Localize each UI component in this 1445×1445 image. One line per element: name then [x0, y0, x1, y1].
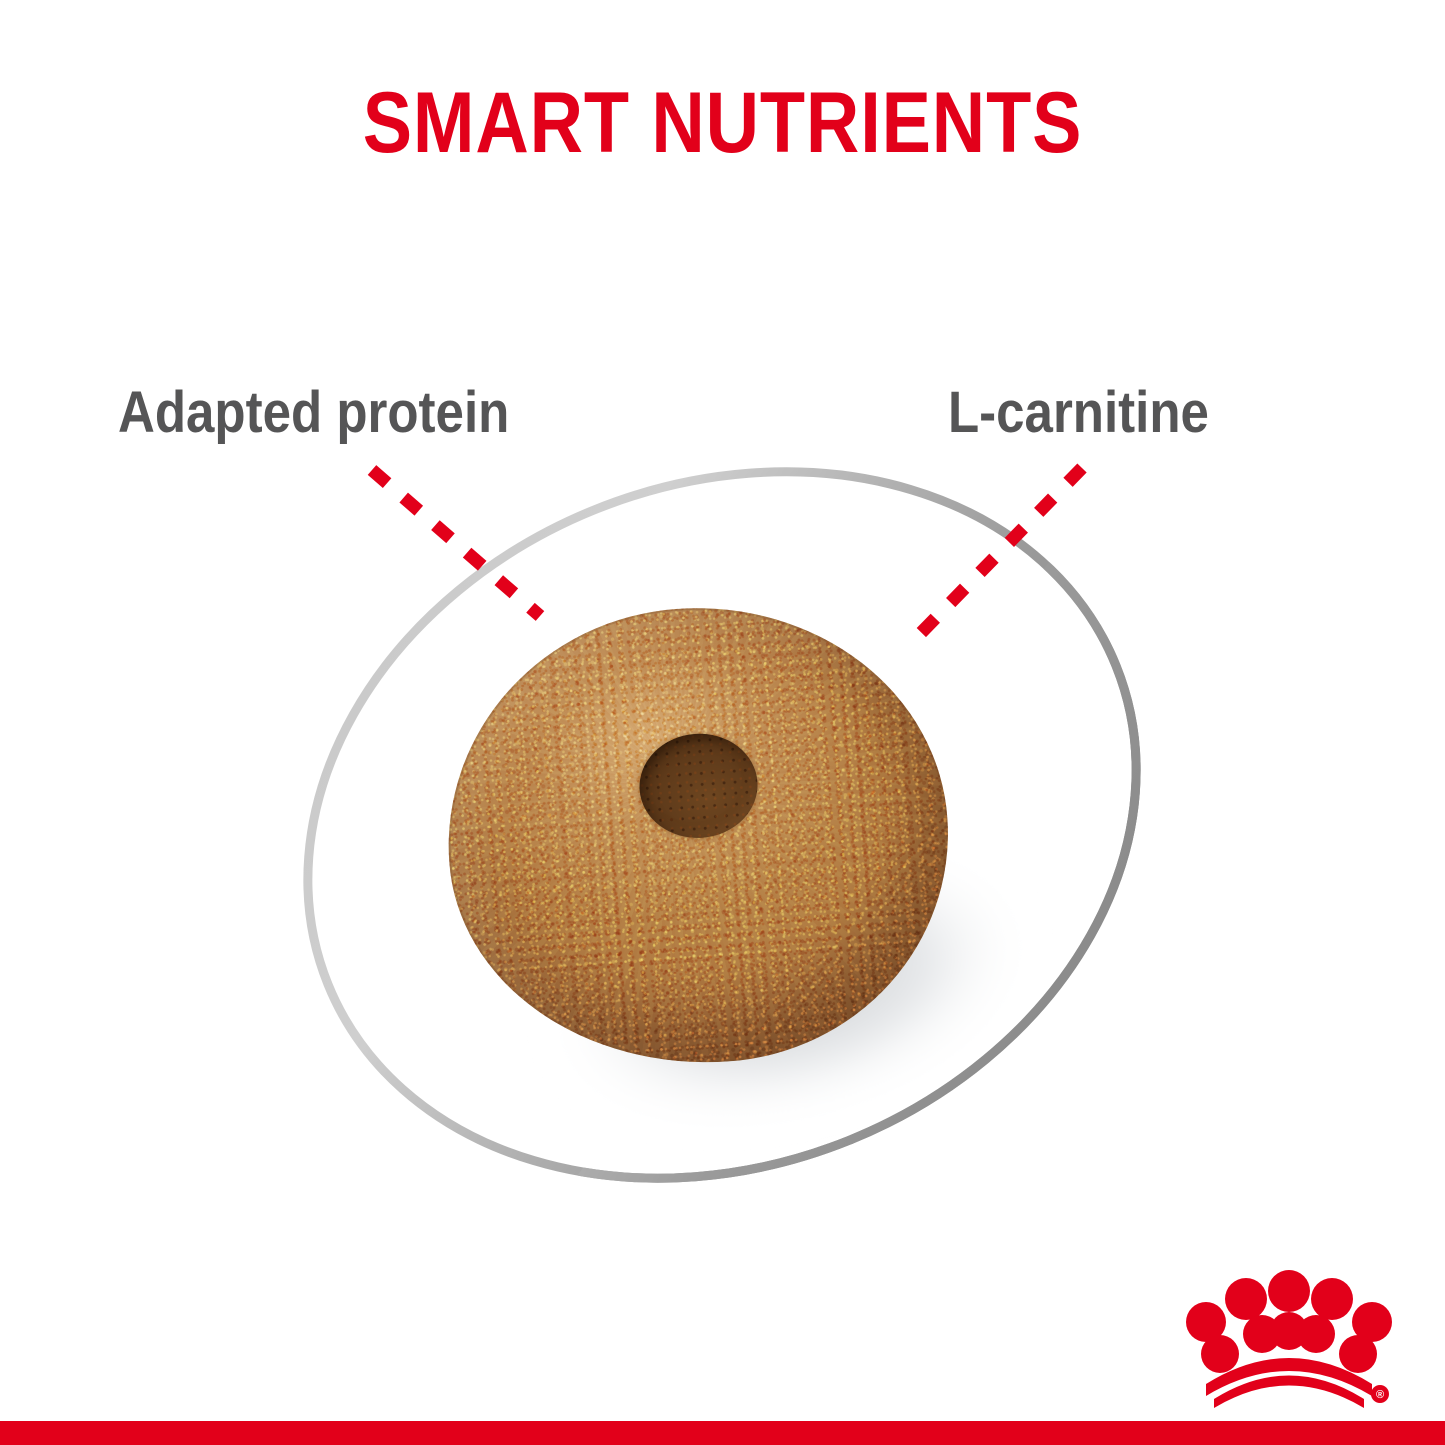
smart-nutrients-infographic: SMART NUTRIENTS Adapted protein L-carnit…: [0, 0, 1445, 1445]
crown-dot-lower-4: [1339, 1335, 1377, 1373]
kibble: [433, 591, 964, 1080]
kibble-hole-texture: [636, 730, 761, 842]
trademark-symbol: ®: [1376, 1389, 1384, 1401]
crown-dot-upper-2: [1225, 1278, 1267, 1320]
callout-label-adapted-protein: Adapted protein: [118, 384, 509, 442]
page-title: SMART NUTRIENTS: [101, 78, 1344, 168]
leader-line-adapted-protein: [372, 470, 540, 616]
footer-bar: [0, 1421, 1445, 1445]
leader-line-l-carnitine: [918, 468, 1082, 636]
crown-dot-upper-3: [1268, 1270, 1310, 1312]
callout-label-l-carnitine: L-carnitine: [948, 384, 1209, 442]
kibble-center-hole: [636, 730, 761, 842]
crown-dot-upper-4: [1311, 1278, 1353, 1320]
crown-dot-lower-1: [1201, 1335, 1239, 1373]
royal-canin-crown-icon: ®: [1184, 1262, 1394, 1410]
crown-dot-center: [1270, 1312, 1308, 1350]
